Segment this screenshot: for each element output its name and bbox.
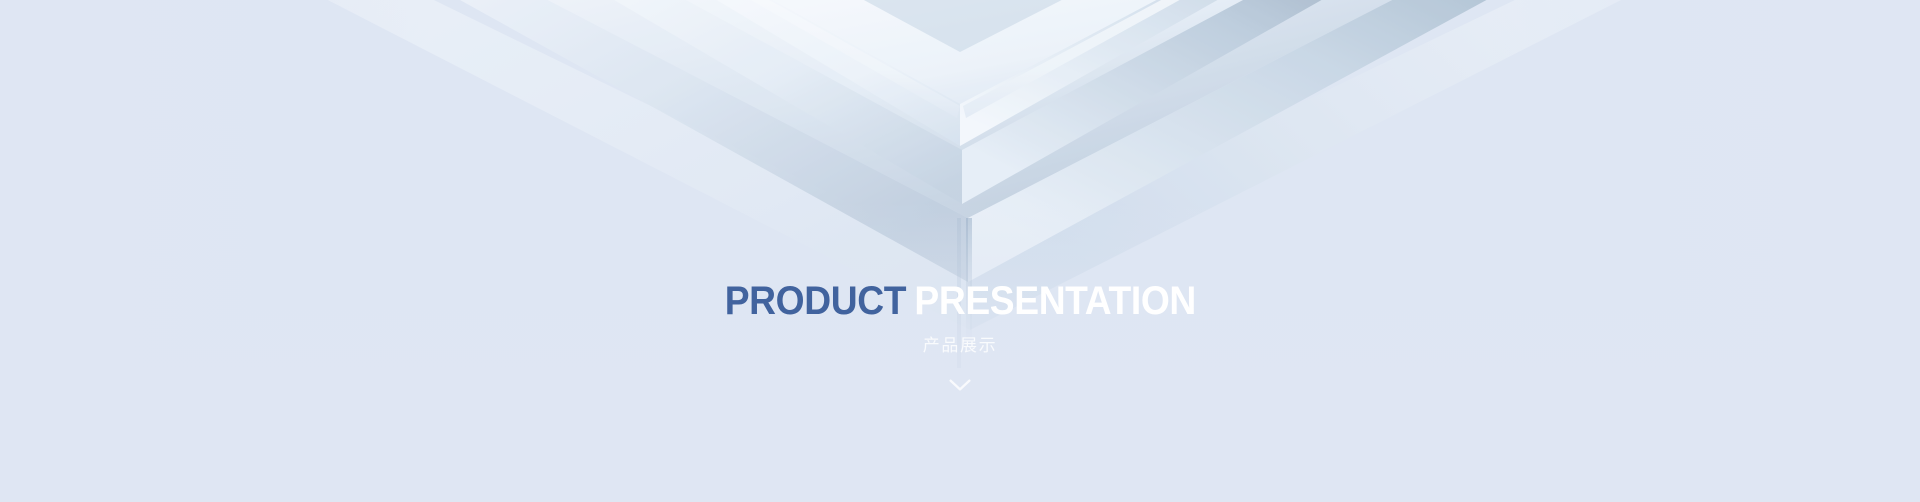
scroll-down-button[interactable] — [943, 375, 977, 395]
banner-content: PRODUCTPRESENTATION 产品展示 — [0, 278, 1920, 395]
banner-background-image — [0, 0, 1920, 502]
page-title-secondary: PRESENTATION — [914, 279, 1195, 323]
page-title: PRODUCTPRESENTATION — [724, 278, 1195, 324]
page-subtitle: 产品展示 — [923, 335, 997, 357]
page-title-primary: PRODUCT — [724, 279, 905, 323]
chevron-background-art — [0, 0, 1920, 502]
product-presentation-banner: PRODUCTPRESENTATION 产品展示 — [0, 0, 1920, 502]
chevron-down-icon — [949, 379, 971, 392]
